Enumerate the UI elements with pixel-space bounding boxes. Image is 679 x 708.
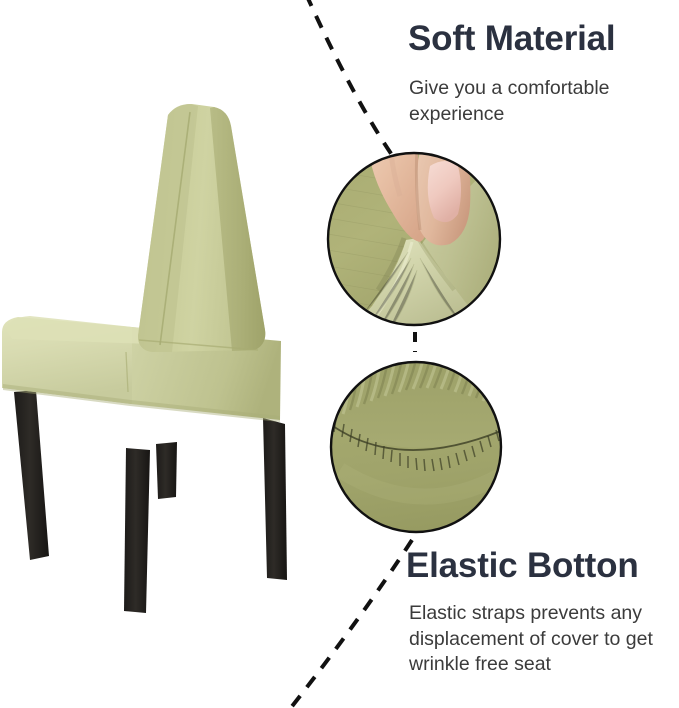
chair-leg-front-left: [124, 448, 150, 613]
feature-heading-soft-material: Soft Material: [408, 21, 615, 58]
dashed-connector-bottom: [286, 540, 412, 708]
callout-elastic-botton: [328, 360, 508, 536]
chair-leg-rear-right: [156, 442, 177, 499]
chair-leg-rear-left: [14, 390, 49, 560]
feature-description-elastic-botton: Elastic straps prevents any displacement…: [409, 601, 671, 678]
callout-soft-material: [320, 104, 512, 344]
chair-with-slipcover: [2, 104, 287, 613]
feature-infographic: Soft Material Give you a comfortable exp…: [0, 0, 679, 708]
feature-heading-elastic-botton: Elastic Botton: [406, 548, 639, 585]
dashed-connector-top: [306, 0, 392, 155]
feature-description-soft-material: Give you a comfortable experience: [409, 76, 657, 127]
chair-leg-front-right: [263, 418, 287, 580]
